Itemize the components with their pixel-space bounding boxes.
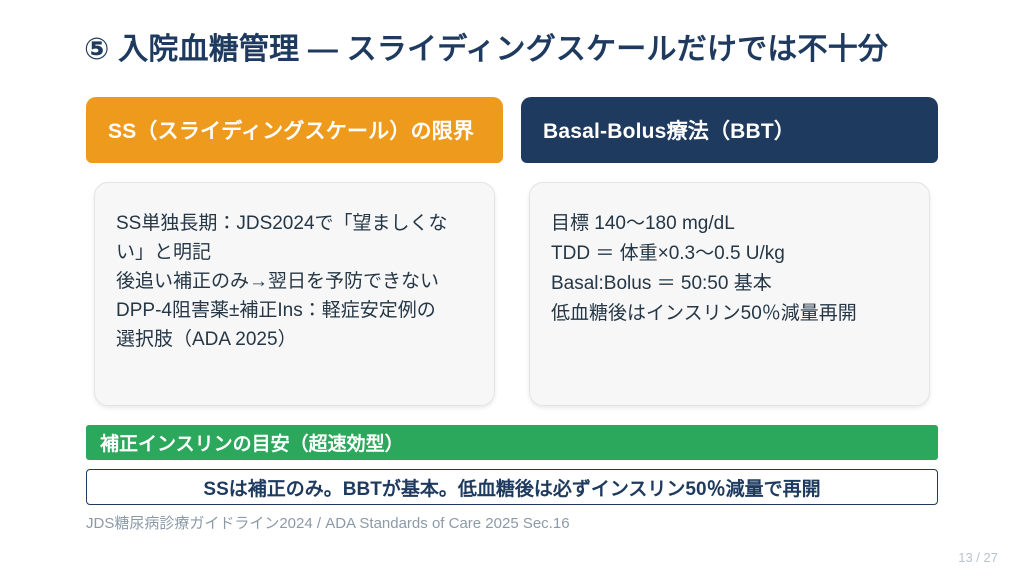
correction-insulin-band: 補正インスリンの目安（超速効型）	[86, 425, 938, 460]
card-line: 低血糖後はインスリン50％減量再開	[551, 299, 909, 329]
card-body-ss-limits: SS単独長期：JDS2024で「望ましくな い」と明記 後追い補正のみ→翌日を予…	[94, 182, 495, 406]
page-number: 13 / 27	[958, 550, 998, 565]
slide-root: ⑤ 入院血糖管理 — スライディングスケールだけでは不十分 SS（スライディング…	[0, 0, 1024, 576]
summary-box: SSは補正のみ。BBTが基本。低血糖後は必ずインスリン50％減量で再開	[86, 469, 938, 505]
card-body-basal-bolus: 目標 140〜180 mg/dL TDD ＝ 体重×0.3〜0.5 U/kg B…	[529, 182, 930, 406]
card-line: い」と明記	[116, 238, 474, 267]
card-line: 目標 140〜180 mg/dL	[551, 209, 909, 239]
card-line: Basal:Bolus ＝ 50:50 基本	[551, 269, 909, 299]
card-basal-bolus: Basal-Bolus療法（BBT） 目標 140〜180 mg/dL TDD …	[521, 97, 938, 163]
card-ss-limits: SS（スライディングスケール）の限界 SS単独長期：JDS2024で「望ましくな…	[86, 97, 503, 163]
card-text-ss-limits: SS単独長期：JDS2024で「望ましくな い」と明記 後追い補正のみ→翌日を予…	[116, 209, 474, 354]
card-line: TDD ＝ 体重×0.3〜0.5 U/kg	[551, 239, 909, 269]
card-line: 選択肢（ADA 2025）	[116, 325, 474, 354]
card-header-ss-limits: SS（スライディングスケール）の限界	[86, 97, 503, 163]
card-line: SS単独長期：JDS2024で「望ましくな	[116, 209, 474, 238]
citation-text: JDS糖尿病診療ガイドライン2024 / ADA Standards of Ca…	[86, 512, 570, 533]
card-header-basal-bolus: Basal-Bolus療法（BBT）	[521, 97, 938, 163]
card-text-basal-bolus: 目標 140〜180 mg/dL TDD ＝ 体重×0.3〜0.5 U/kg B…	[551, 209, 909, 329]
page-title: ⑤ 入院血糖管理 — スライディングスケールだけでは不十分	[84, 24, 984, 68]
card-line: 後追い補正のみ→翌日を予防できない	[116, 267, 474, 296]
card-line: DPP-4阻害薬±補正Ins：軽症安定例の	[116, 296, 474, 325]
